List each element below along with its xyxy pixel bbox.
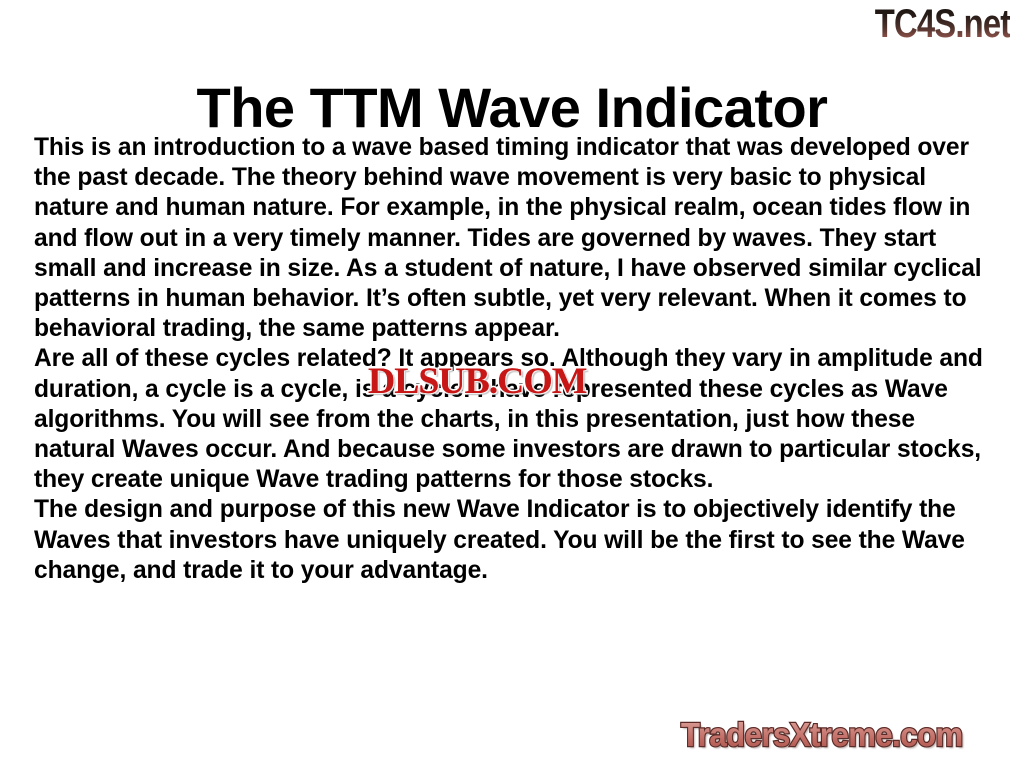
logo-fill-layer: TradersXtreme.com [681, 716, 963, 754]
tc4s-brand-logo: TC4S.net [874, 2, 1010, 46]
slide-body-text: This is an introduction to a wave based … [34, 133, 994, 586]
tradersxtreme-footer-logo: TradersXtreme.comTradersXtreme.com [681, 716, 963, 754]
logo-fill-layer: DLSUB.COM [368, 363, 586, 401]
body-paragraph-3: The design and purpose of this new Wave … [34, 495, 994, 586]
dlsub-watermark: DLSUB.COMDLSUB.COM [368, 363, 586, 401]
body-paragraph-1: This is an introduction to a wave based … [34, 133, 994, 344]
page-title: The TTM Wave Indicator [0, 76, 1024, 140]
